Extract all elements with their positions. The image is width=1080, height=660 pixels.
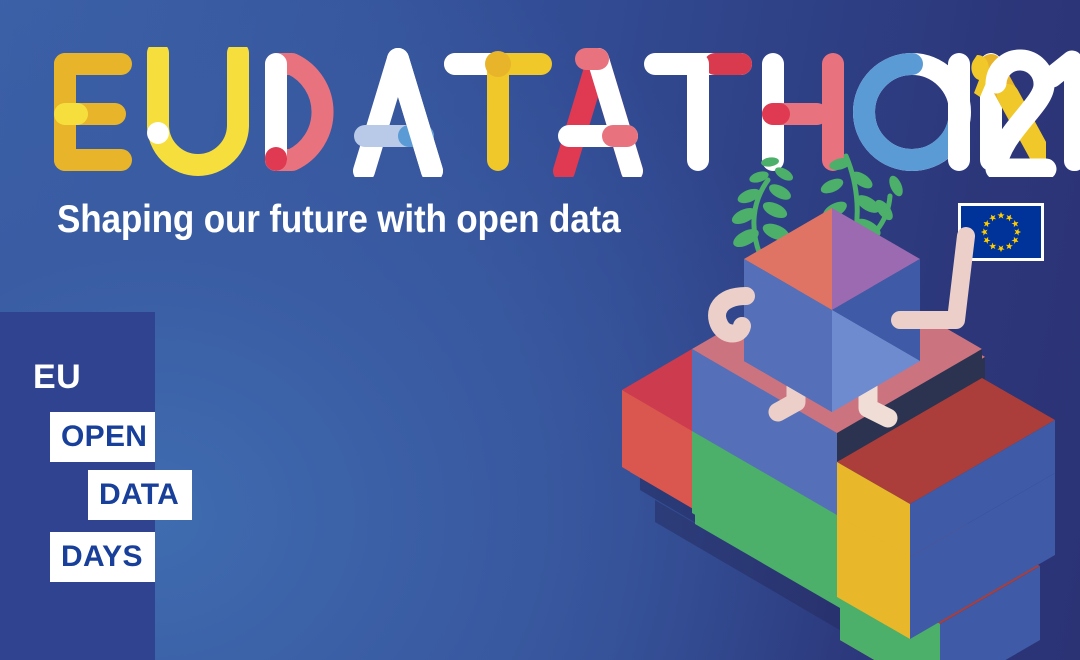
logotype-letter-t1 xyxy=(444,51,552,171)
logotype-letter-a1 xyxy=(354,59,434,171)
character-arm-left xyxy=(717,296,746,334)
badge-box-data: DATA xyxy=(88,470,192,520)
tagline: Shaping our future with open data xyxy=(57,198,620,242)
poster-canvas: Shaping our future with open data xyxy=(0,0,1080,660)
badge-box-open: OPEN xyxy=(50,412,155,462)
logotype-apostrophe xyxy=(971,55,989,97)
logotype-letter-d xyxy=(265,53,323,171)
badge-line-eu: EU xyxy=(33,360,81,394)
logotype-letter-u xyxy=(147,53,238,165)
logotype-letter-e xyxy=(54,53,132,171)
isometric-cube-character-illustration xyxy=(600,150,1080,660)
badge-box-days: DAYS xyxy=(50,532,155,582)
